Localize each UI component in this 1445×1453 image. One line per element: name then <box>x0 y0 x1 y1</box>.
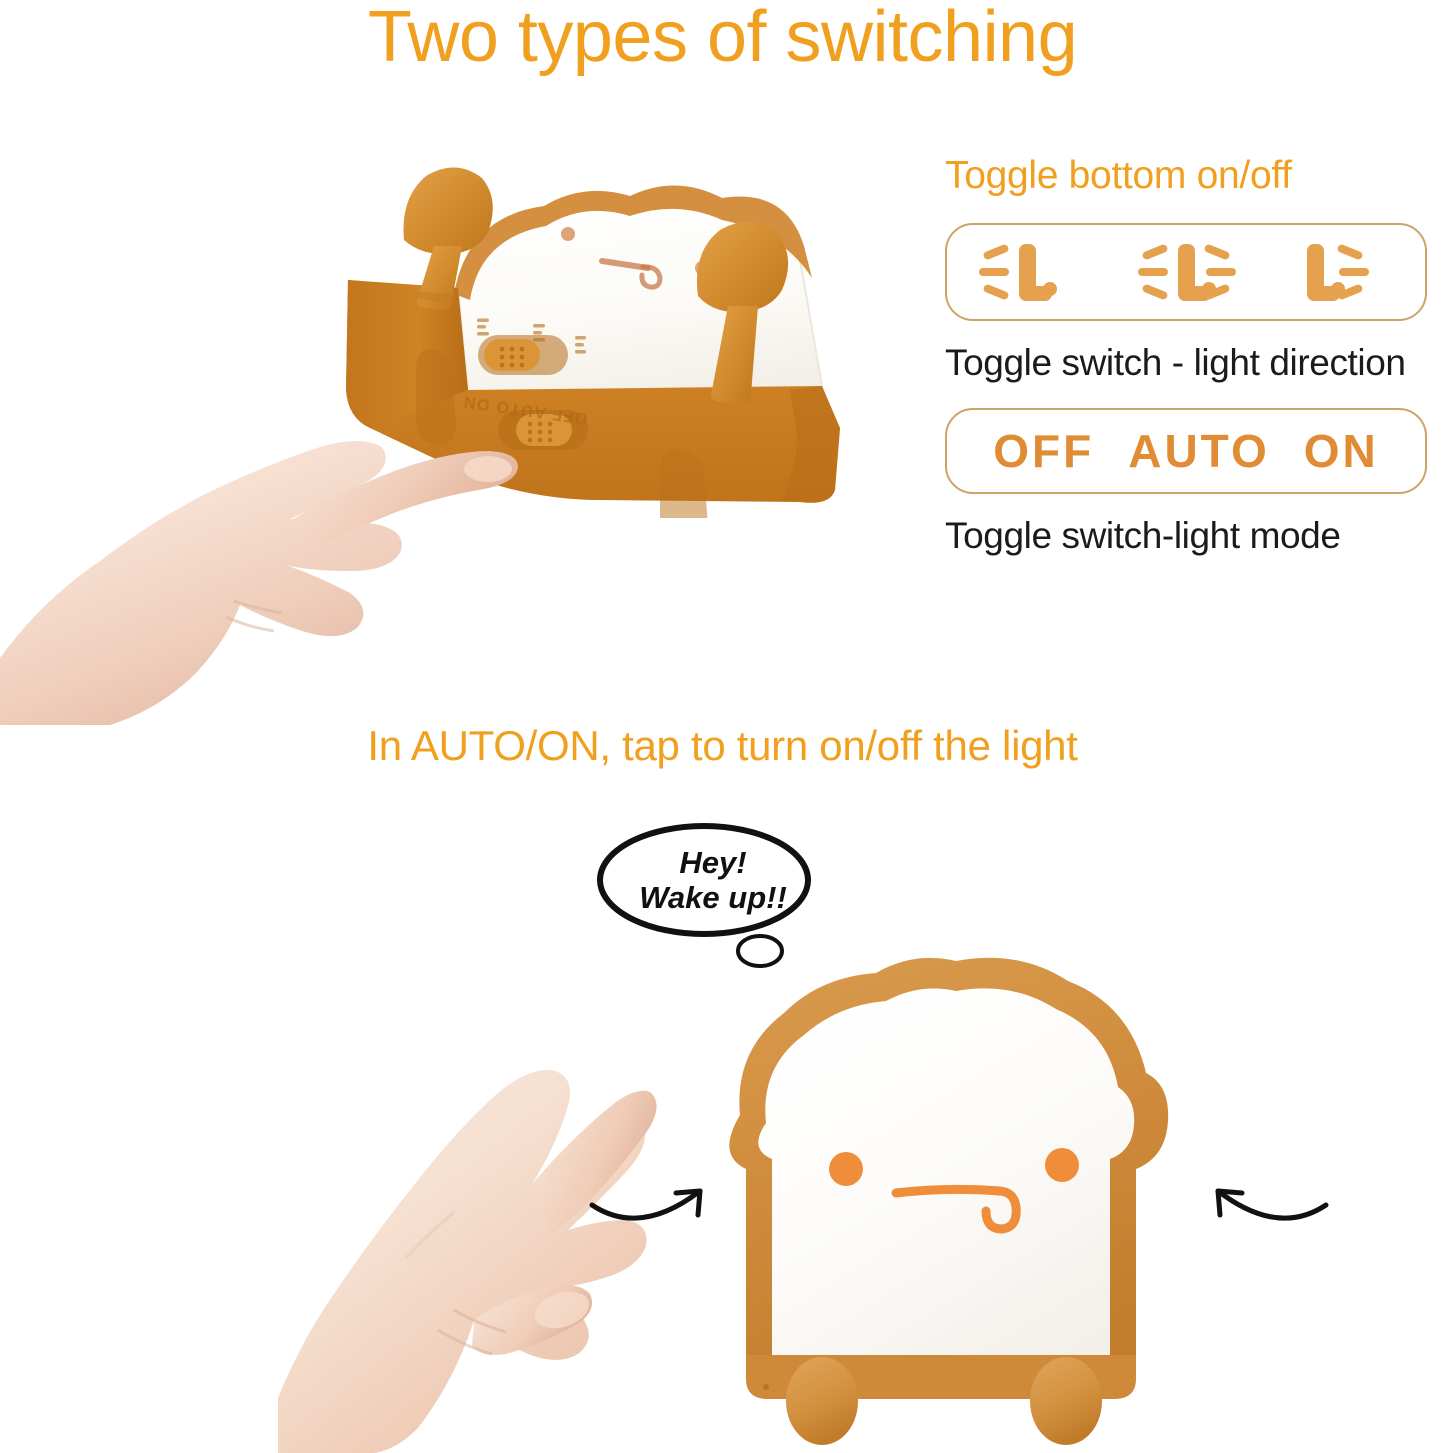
toast-lamp-front[interactable] <box>700 955 1200 1450</box>
arrow-curve <box>1218 1191 1326 1218</box>
bubble-line-1: Hey! <box>610 846 816 881</box>
toast-lamp-front-svg[interactable] <box>700 955 1200 1450</box>
ray-right-upper <box>1203 244 1230 261</box>
arrow-left-to-lamp <box>588 1155 718 1230</box>
lamp-left-eye <box>561 227 575 241</box>
page-title: Two types of switching <box>0 0 1445 78</box>
mode-option-on[interactable]: ON <box>1304 424 1379 478</box>
fingernail <box>464 456 512 482</box>
ray-right-mid <box>1339 268 1369 276</box>
right-info-panel: Toggle bottom on/off <box>945 155 1445 556</box>
bubble-text: Hey! Wake up!! <box>610 846 816 915</box>
toast-diffuser-panel[interactable] <box>758 988 1134 1367</box>
arrow-right-to-lamp <box>1200 1155 1330 1230</box>
light-left-icon[interactable] <box>967 236 1087 308</box>
toast-foot-left <box>786 1357 858 1445</box>
ray-left-lower <box>1141 284 1168 301</box>
light-both-icon[interactable] <box>1126 236 1246 308</box>
bubble-line-2: Wake up!! <box>610 881 816 916</box>
mode-option-off[interactable]: OFF <box>993 424 1094 478</box>
hand-palm <box>0 441 402 725</box>
ray-left-upper <box>1141 244 1168 261</box>
light-direction-caption: Toggle switch - light direction <box>945 343 1445 384</box>
ray-left-upper <box>982 244 1009 261</box>
lamp-tip <box>1202 282 1216 296</box>
toggle-bottom-heading: Toggle bottom on/off <box>945 155 1445 197</box>
hand-pressing-switch <box>0 365 530 725</box>
lamp-tip <box>1043 282 1057 296</box>
ray-left-lower <box>982 284 1009 301</box>
toast-foot-right <box>1030 1357 1102 1445</box>
infographic-page: Two types of switching <box>0 0 1445 1453</box>
mode-option-auto[interactable]: AUTO <box>1128 424 1270 478</box>
hand-crease-2 <box>226 617 274 631</box>
ray-left-mid <box>1138 268 1168 276</box>
arrow-curve <box>592 1191 700 1218</box>
toast-right-eye <box>1045 1148 1079 1182</box>
ray-right-mid <box>1206 268 1236 276</box>
light-mode-box[interactable]: OFF AUTO ON <box>945 408 1427 494</box>
mode-switch-grip <box>528 422 553 443</box>
light-mode-caption: Toggle switch-light mode <box>945 516 1445 557</box>
light-right-icon[interactable] <box>1285 236 1405 308</box>
toast-indicator-dot <box>763 1384 769 1390</box>
middle-caption: In AUTO/ON, tap to turn on/off the light <box>0 722 1445 770</box>
light-mode-options: OFF AUTO ON <box>947 424 1425 478</box>
ray-right-upper <box>1337 244 1364 261</box>
toast-mouth-line <box>896 1189 1000 1193</box>
light-direction-box[interactable] <box>945 223 1427 321</box>
toast-left-eye <box>829 1152 863 1186</box>
ray-left-mid <box>979 268 1009 276</box>
